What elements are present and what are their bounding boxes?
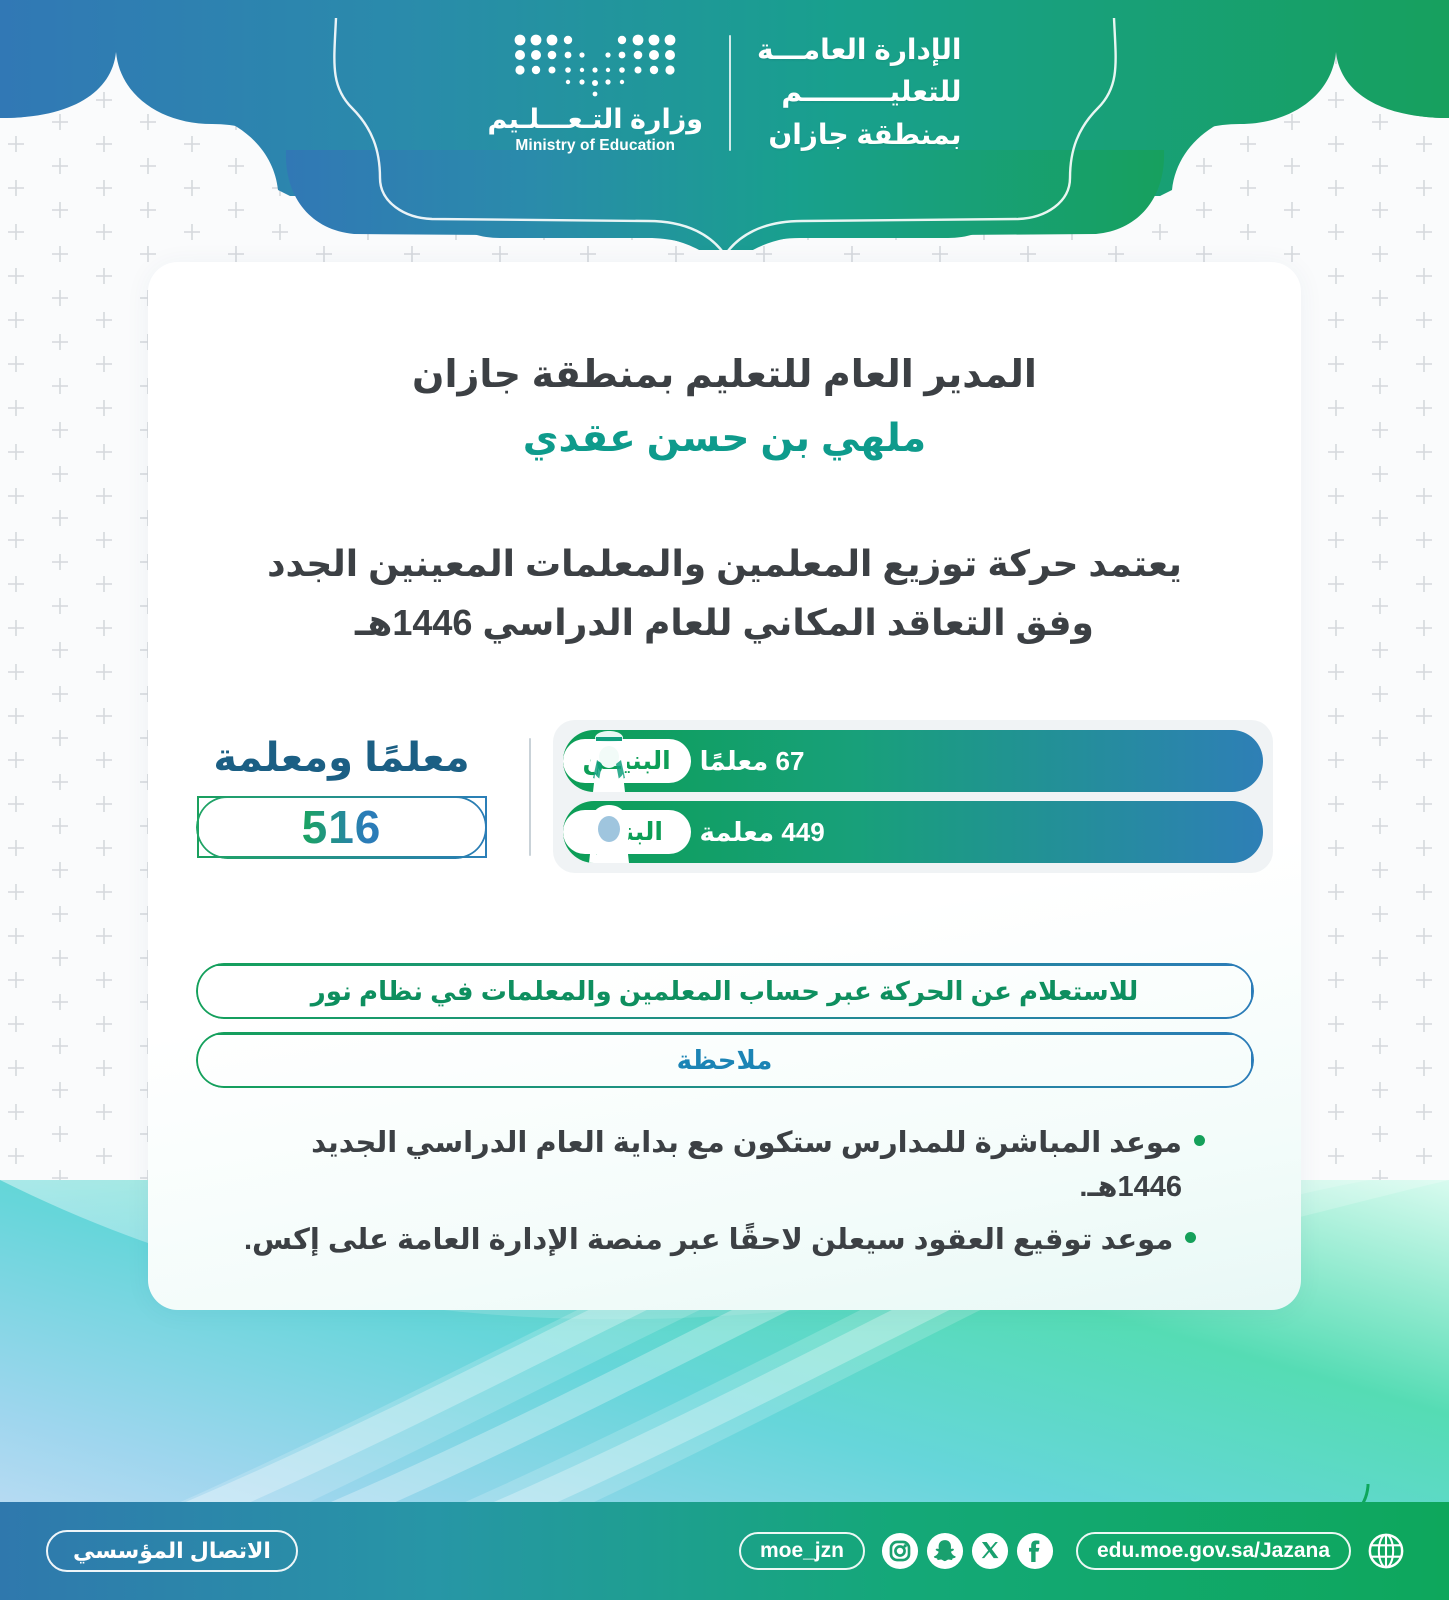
stat-row-boys: البنيــن 67 معلمًا [563,730,1263,792]
globe-icon [1367,1532,1405,1570]
announcement-text: يعتمد حركة توزيع المعلمين والمعلمات المع… [148,535,1301,652]
list-item: موعد توقيع العقود سيعلن لاحقًا عبر منصة … [244,1219,1196,1263]
footer-left-group: edu.moe.gov.sa/Jazana [693,1532,1405,1570]
total-pill: 516 [197,796,487,858]
total-block: معلمًا ومعلمة 516 [177,735,507,858]
bullet-dot-icon [1194,1135,1205,1146]
director-role: المدير العام للتعليم بمنطقة جازان [148,350,1301,401]
female-avatar-icon [577,801,641,863]
announcement-line-1: يعتمد حركة توزيع المعلمين والمعلمات المع… [148,535,1301,594]
bullet-dot-icon [1185,1232,1196,1243]
corporate-communication-chip[interactable]: الاتصال المؤسسي [46,1530,298,1572]
stat-value-girls: 449 معلمة [700,817,825,848]
stat-value-boys: 67 معلمًا [700,746,805,777]
social-icons-group [881,1532,1054,1570]
footer-right-group: الاتصال المؤسسي [46,1530,298,1572]
stat-row-girls: البنات 449 معلمة [563,801,1263,863]
statistics-section: البنيــن 67 معلمًا البنات 44 [148,720,1301,873]
list-item: موعد المباشرة للمدارس ستكون مع بداية الع… [244,1122,1205,1209]
snapchat-icon[interactable] [926,1532,964,1570]
main-content-card: المدير العام للتعليم بمنطقة جازان ملهي ب… [148,262,1301,1310]
stat-bars-group: البنيــن 67 معلمًا البنات 44 [553,720,1273,873]
stats-separator [529,738,531,856]
director-name: ملهي بن حسن عقدي [148,414,1301,465]
male-avatar-icon [577,730,641,792]
facebook-icon[interactable] [1016,1532,1054,1570]
note-label: ملاحظة [196,1032,1254,1088]
notes-section: للاستعلام عن الحركة عبر حساب المعلمين وا… [148,963,1301,1088]
social-handle-chip[interactable]: moe_jzn [739,1532,865,1570]
director-block: المدير العام للتعليم بمنطقة جازان ملهي ب… [148,350,1301,465]
bullet-text: موعد توقيع العقود سيعلن لاحقًا عبر منصة … [244,1219,1173,1263]
bullet-text: موعد المباشرة للمدارس ستكون مع بداية الع… [244,1122,1182,1209]
infographic-poster: الإدارة العامـــة للتعليـــــــــم بمنطق… [0,0,1449,1600]
total-label: معلمًا ومعلمة [213,735,469,781]
bullet-list: موعد المباشرة للمدارس ستكون مع بداية الع… [148,1122,1301,1263]
x-twitter-icon[interactable] [971,1532,1009,1570]
footer-bar: edu.moe.gov.sa/Jazana [0,1502,1449,1600]
instagram-icon[interactable] [881,1532,919,1570]
inquiry-note: للاستعلام عن الحركة عبر حساب المعلمين وا… [196,963,1254,1019]
announcement-line-2: وفق التعاقد المكاني للعام الدراسي 1446هـ [148,594,1301,653]
header-banner [0,0,1449,250]
total-value: 516 [302,800,382,854]
website-chip[interactable]: edu.moe.gov.sa/Jazana [1076,1532,1351,1570]
